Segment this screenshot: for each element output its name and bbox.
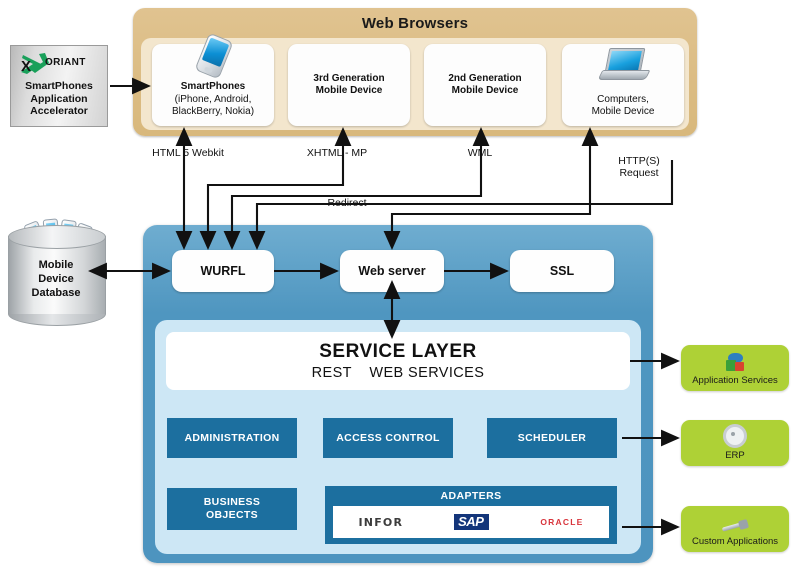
device-card-smartphones-label: SmartPhones (iPhone, Android, BlackBerry… xyxy=(168,81,258,118)
device-card-third-generation[interactable]: 3rd Generation Mobile Device xyxy=(288,44,410,126)
oracle-logo[interactable]: ORACLE xyxy=(540,517,583,527)
adapters-logo-strip: INFOR SAP ORACLE xyxy=(333,506,609,538)
connector-label-html5: HTML 5 Webkit xyxy=(141,147,235,159)
xoriant-logo-icon: X ORIANT xyxy=(19,51,99,77)
xoriant-wordmark: ORIANT xyxy=(45,57,86,68)
device-sub1-3g: Mobile Device xyxy=(316,85,383,96)
svg-text:X: X xyxy=(21,58,31,75)
target-custom-applications[interactable]: Custom Applications xyxy=(681,506,789,552)
tile-business-objects[interactable]: BUSINESS OBJECTS xyxy=(167,488,297,530)
mdb-line2: Device xyxy=(38,273,73,285)
business-objects-line2: OBJECTS xyxy=(206,509,258,521)
wrench-icon xyxy=(722,519,748,533)
connector-label-wml: WML xyxy=(440,147,520,159)
device-card-second-generation[interactable]: 2nd Generation Mobile Device xyxy=(424,44,546,126)
service-layer-web-services: WEB SERVICES xyxy=(369,365,484,381)
infor-logo[interactable]: INFOR xyxy=(359,516,404,529)
adapters-title: ADAPTERS xyxy=(325,490,617,502)
adapters-box: ADAPTERS INFOR SAP ORACLE xyxy=(325,486,617,544)
ssl-box[interactable]: SSL xyxy=(510,250,614,292)
target-application-services-label: Application Services xyxy=(692,375,778,386)
accelerator-label: SmartPhones Application Accelerator xyxy=(25,80,93,118)
device-title-3g: 3rd Generation xyxy=(313,73,384,84)
device-card-smartphones[interactable]: SmartPhones (iPhone, Android, BlackBerry… xyxy=(152,44,274,126)
device-sub1-2g: Mobile Device xyxy=(452,85,519,96)
target-erp-label: ERP xyxy=(725,450,745,461)
target-custom-applications-label: Custom Applications xyxy=(692,536,778,547)
service-layer-subtitle: REST WEB SERVICES xyxy=(312,365,485,381)
device-sub1-smartphones: (iPhone, Android, xyxy=(175,94,252,105)
xoriant-accelerator-box: X ORIANT SmartPhones Application Acceler… xyxy=(10,45,108,127)
web-browsers-title: Web Browsers xyxy=(133,15,697,32)
mdb-line3: Database xyxy=(32,287,81,299)
device-title-2g: 2nd Generation xyxy=(448,73,521,84)
service-layer-title: SERVICE LAYER xyxy=(319,341,477,363)
accelerator-label-line1: SmartPhones xyxy=(25,80,93,92)
device-title-smartphones: SmartPhones xyxy=(181,81,245,92)
pie-chart-3d-icon xyxy=(724,353,746,373)
device-card-computers[interactable]: Computers, Mobile Device xyxy=(562,44,684,126)
service-layer-rest: REST xyxy=(312,365,352,381)
device-sub2-smartphones: BlackBerry, Nokia) xyxy=(172,106,254,117)
laptop-icon xyxy=(600,48,646,80)
tile-access-control[interactable]: ACCESS CONTROL xyxy=(323,418,453,458)
device-title-computers: Computers, xyxy=(597,94,649,105)
tile-scheduler[interactable]: SCHEDULER xyxy=(487,418,617,458)
mobile-device-database-icon: Mobile Device Database xyxy=(8,222,104,322)
device-card-third-generation-label: 3rd Generation Mobile Device xyxy=(309,73,388,97)
sap-logo[interactable]: SAP xyxy=(454,514,489,530)
mobile-device-database-label: Mobile Device Database xyxy=(8,258,104,300)
service-layer-box: SERVICE LAYER REST WEB SERVICES xyxy=(166,332,630,390)
tile-administration[interactable]: ADMINISTRATION xyxy=(167,418,297,458)
device-sub1-computers: Mobile Device xyxy=(592,106,655,117)
https-line2: Request xyxy=(619,167,658,179)
wurfl-box[interactable]: WURFL xyxy=(172,250,274,292)
https-line1: HTTP(S) xyxy=(618,155,659,167)
mdb-line1: Mobile xyxy=(39,259,74,271)
accelerator-label-line3: Accelerator xyxy=(30,105,88,117)
web-server-box[interactable]: Web server xyxy=(340,250,444,292)
connector-label-redirect: Redirect xyxy=(316,197,378,209)
target-erp[interactable]: ERP xyxy=(681,420,789,466)
business-objects-line1: BUSINESS xyxy=(204,496,260,508)
connector-label-https: HTTP(S) Request xyxy=(600,155,678,179)
gear-icon xyxy=(723,424,747,448)
device-card-computers-label: Computers, Mobile Device xyxy=(588,94,659,118)
accelerator-label-line2: Application xyxy=(30,93,87,105)
device-card-second-generation-label: 2nd Generation Mobile Device xyxy=(444,73,525,97)
connector-label-xhtml: XHTML - MP xyxy=(290,147,384,159)
target-application-services[interactable]: Application Services xyxy=(681,345,789,391)
